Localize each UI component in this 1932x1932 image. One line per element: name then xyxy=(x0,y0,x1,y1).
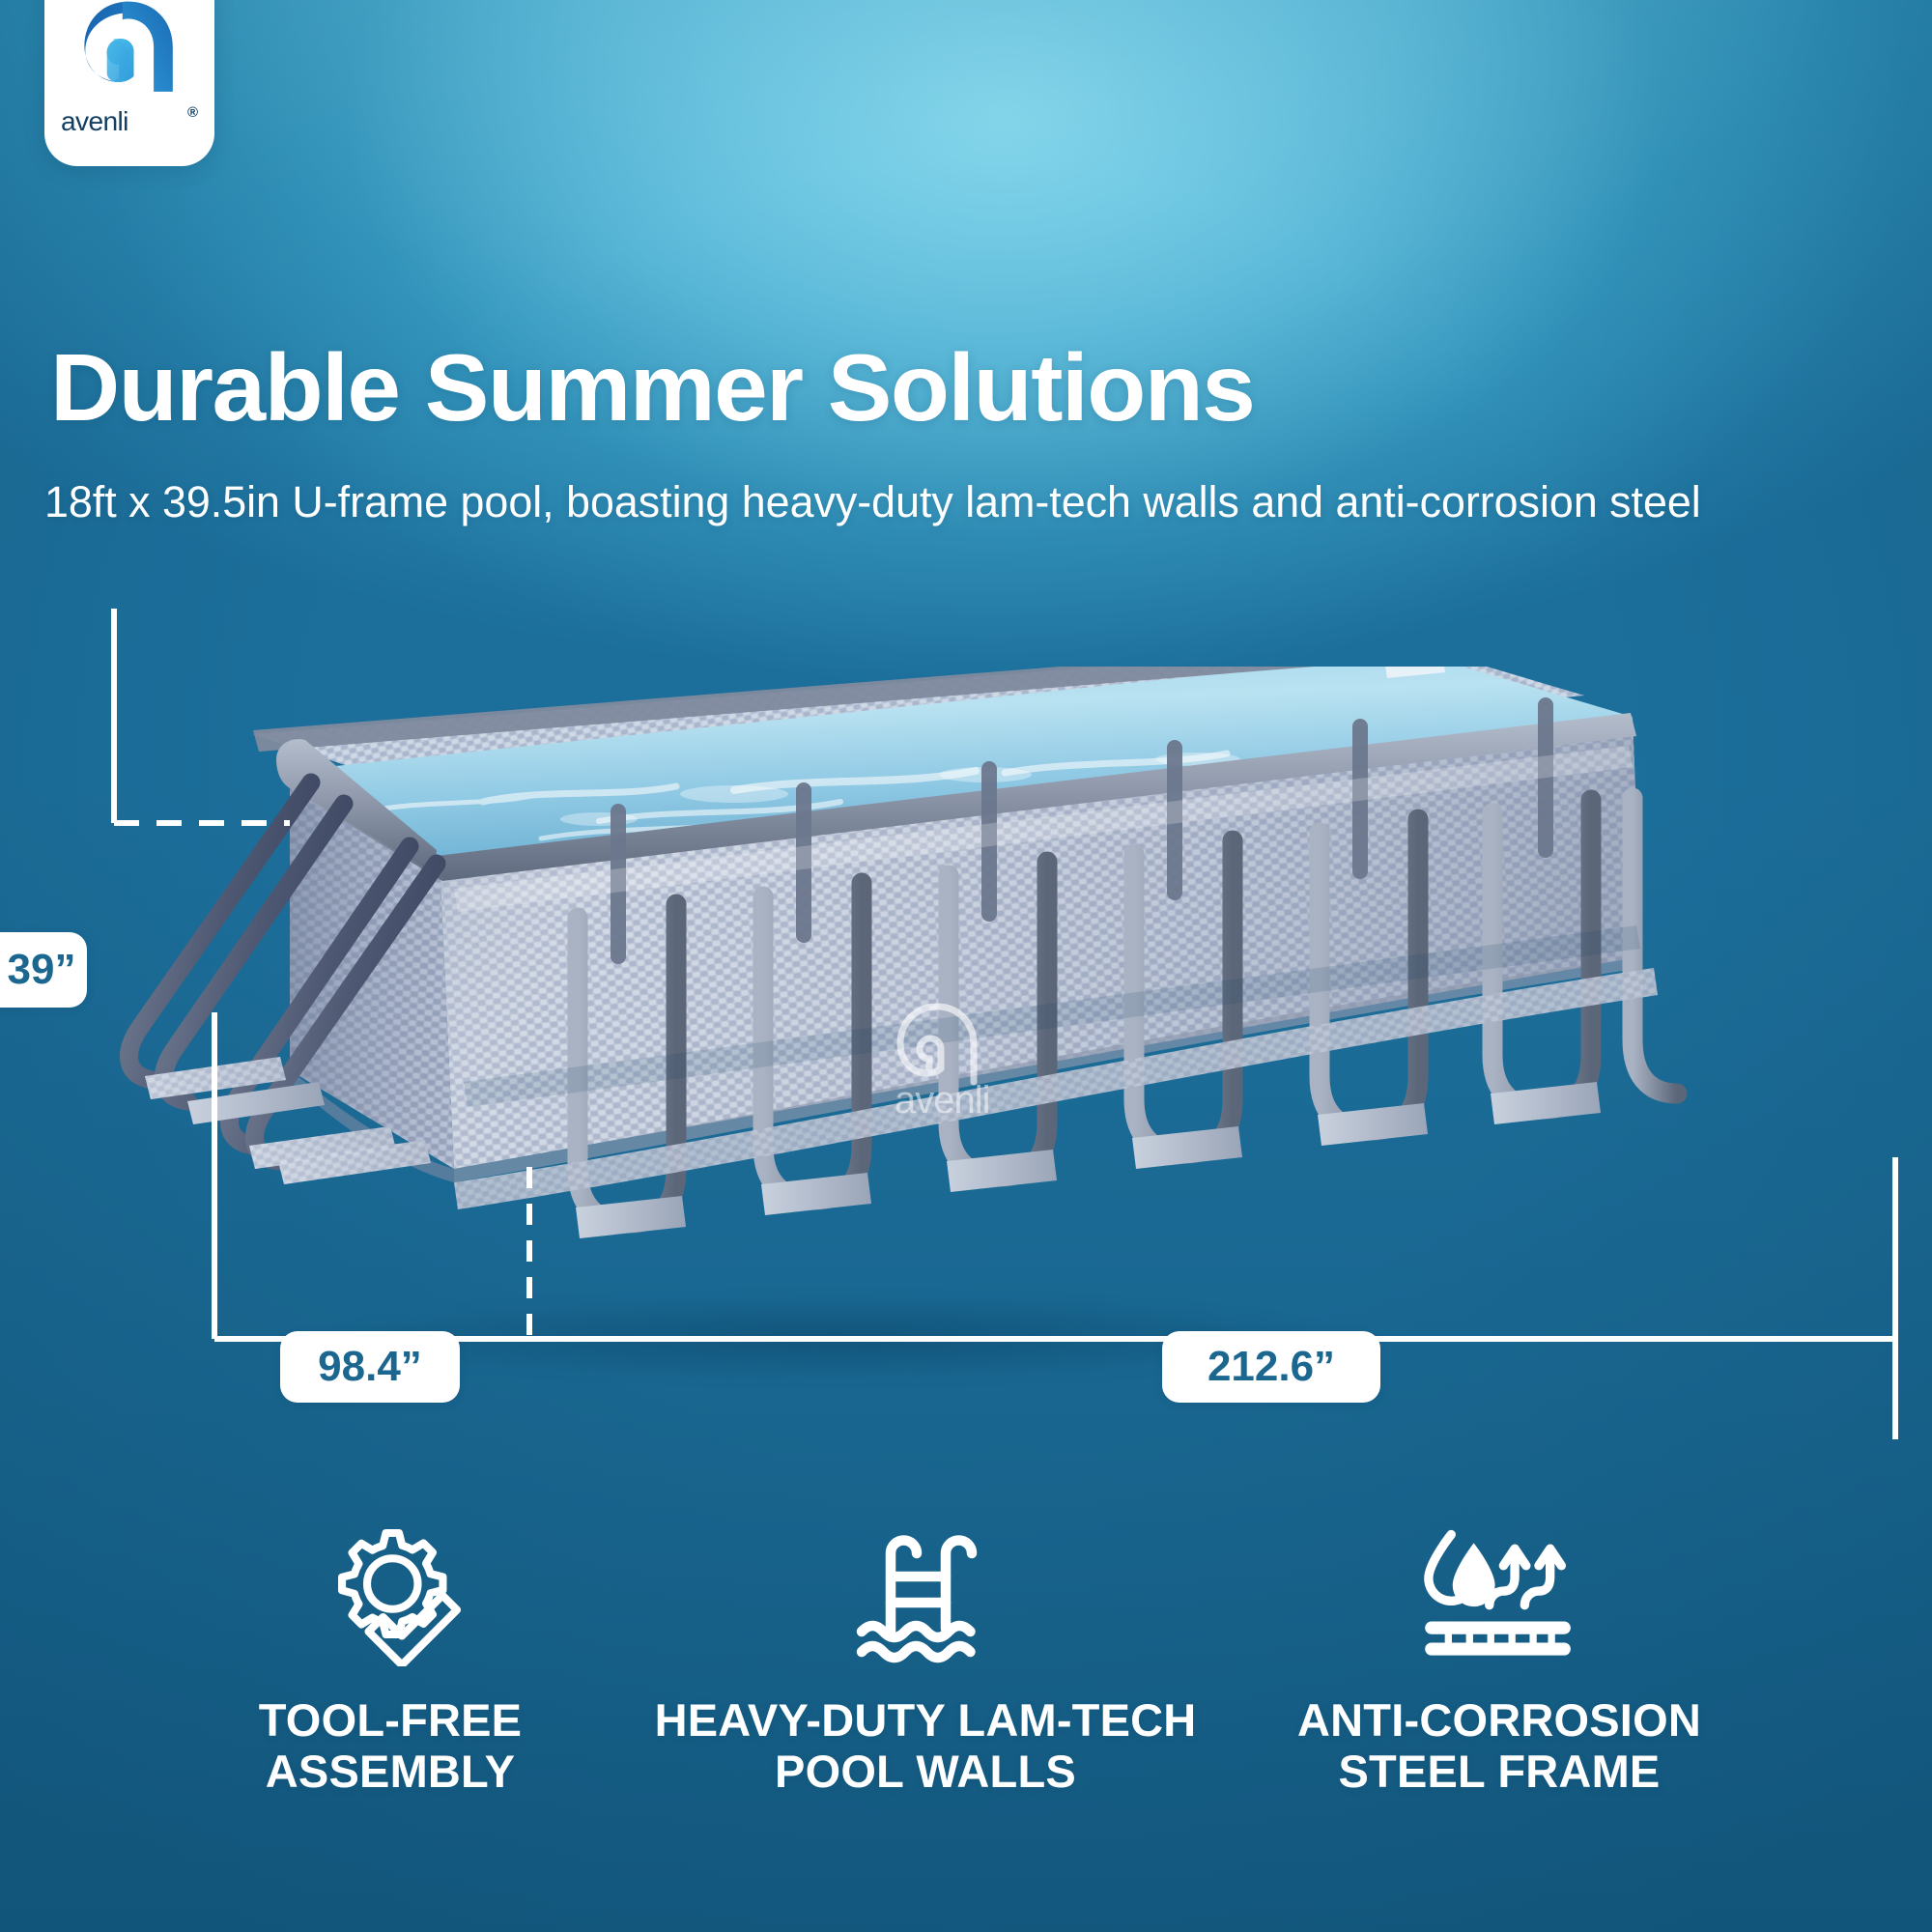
feature-label-line1: ANTI-CORROSION xyxy=(1297,1694,1701,1746)
dimension-guides xyxy=(0,609,1932,1439)
registered-mark: ® xyxy=(187,104,198,121)
feature-label: HEAVY-DUTY LAM-TECH POOL WALLS xyxy=(655,1694,1197,1797)
feature-item-lam-tech-walls: HEAVY-DUTY LAM-TECH POOL WALLS xyxy=(616,1517,1235,1797)
feature-label-line1: HEAVY-DUTY LAM-TECH xyxy=(655,1694,1197,1746)
brand-wordmark: avenli ® xyxy=(61,102,198,141)
avenli-wordmark-icon: avenli xyxy=(61,102,185,141)
feature-label-line2: ASSEMBLY xyxy=(266,1746,515,1797)
pool-ladder-icon xyxy=(852,1517,999,1671)
feature-label: TOOL-FREE ASSEMBLY xyxy=(259,1694,523,1797)
gear-check-icon xyxy=(318,1517,463,1671)
dimension-label-height: 39” xyxy=(0,932,87,1008)
feature-label-line1: TOOL-FREE xyxy=(259,1694,523,1746)
brand-logo-badge: avenli ® xyxy=(44,0,214,166)
product-image-stage: avenli xyxy=(0,667,1932,1420)
feature-label-line2: POOL WALLS xyxy=(775,1746,1076,1797)
page-subtitle: 18ft x 39.5in U-frame pool, boasting hea… xyxy=(44,478,1899,526)
page-title: Durable Summer Solutions xyxy=(50,340,1932,435)
svg-text:avenli: avenli xyxy=(61,106,128,136)
feature-label-line2: STEEL FRAME xyxy=(1339,1746,1661,1797)
dimension-label-width: 98.4” xyxy=(280,1331,460,1403)
feature-list: TOOL-FREE ASSEMBLY HEAVY-DUTY LAM-TECH P… xyxy=(0,1517,1932,1903)
feature-item-tool-free-assembly: TOOL-FREE ASSEMBLY xyxy=(120,1517,661,1797)
feature-label: ANTI-CORROSION STEEL FRAME xyxy=(1297,1694,1701,1797)
water-repellent-icon xyxy=(1423,1517,1576,1671)
dimension-label-length: 212.6” xyxy=(1162,1331,1380,1403)
feature-item-anti-corrosion-frame: ANTI-CORROSION STEEL FRAME xyxy=(1229,1517,1770,1797)
avenli-a-logo-icon xyxy=(77,0,182,99)
